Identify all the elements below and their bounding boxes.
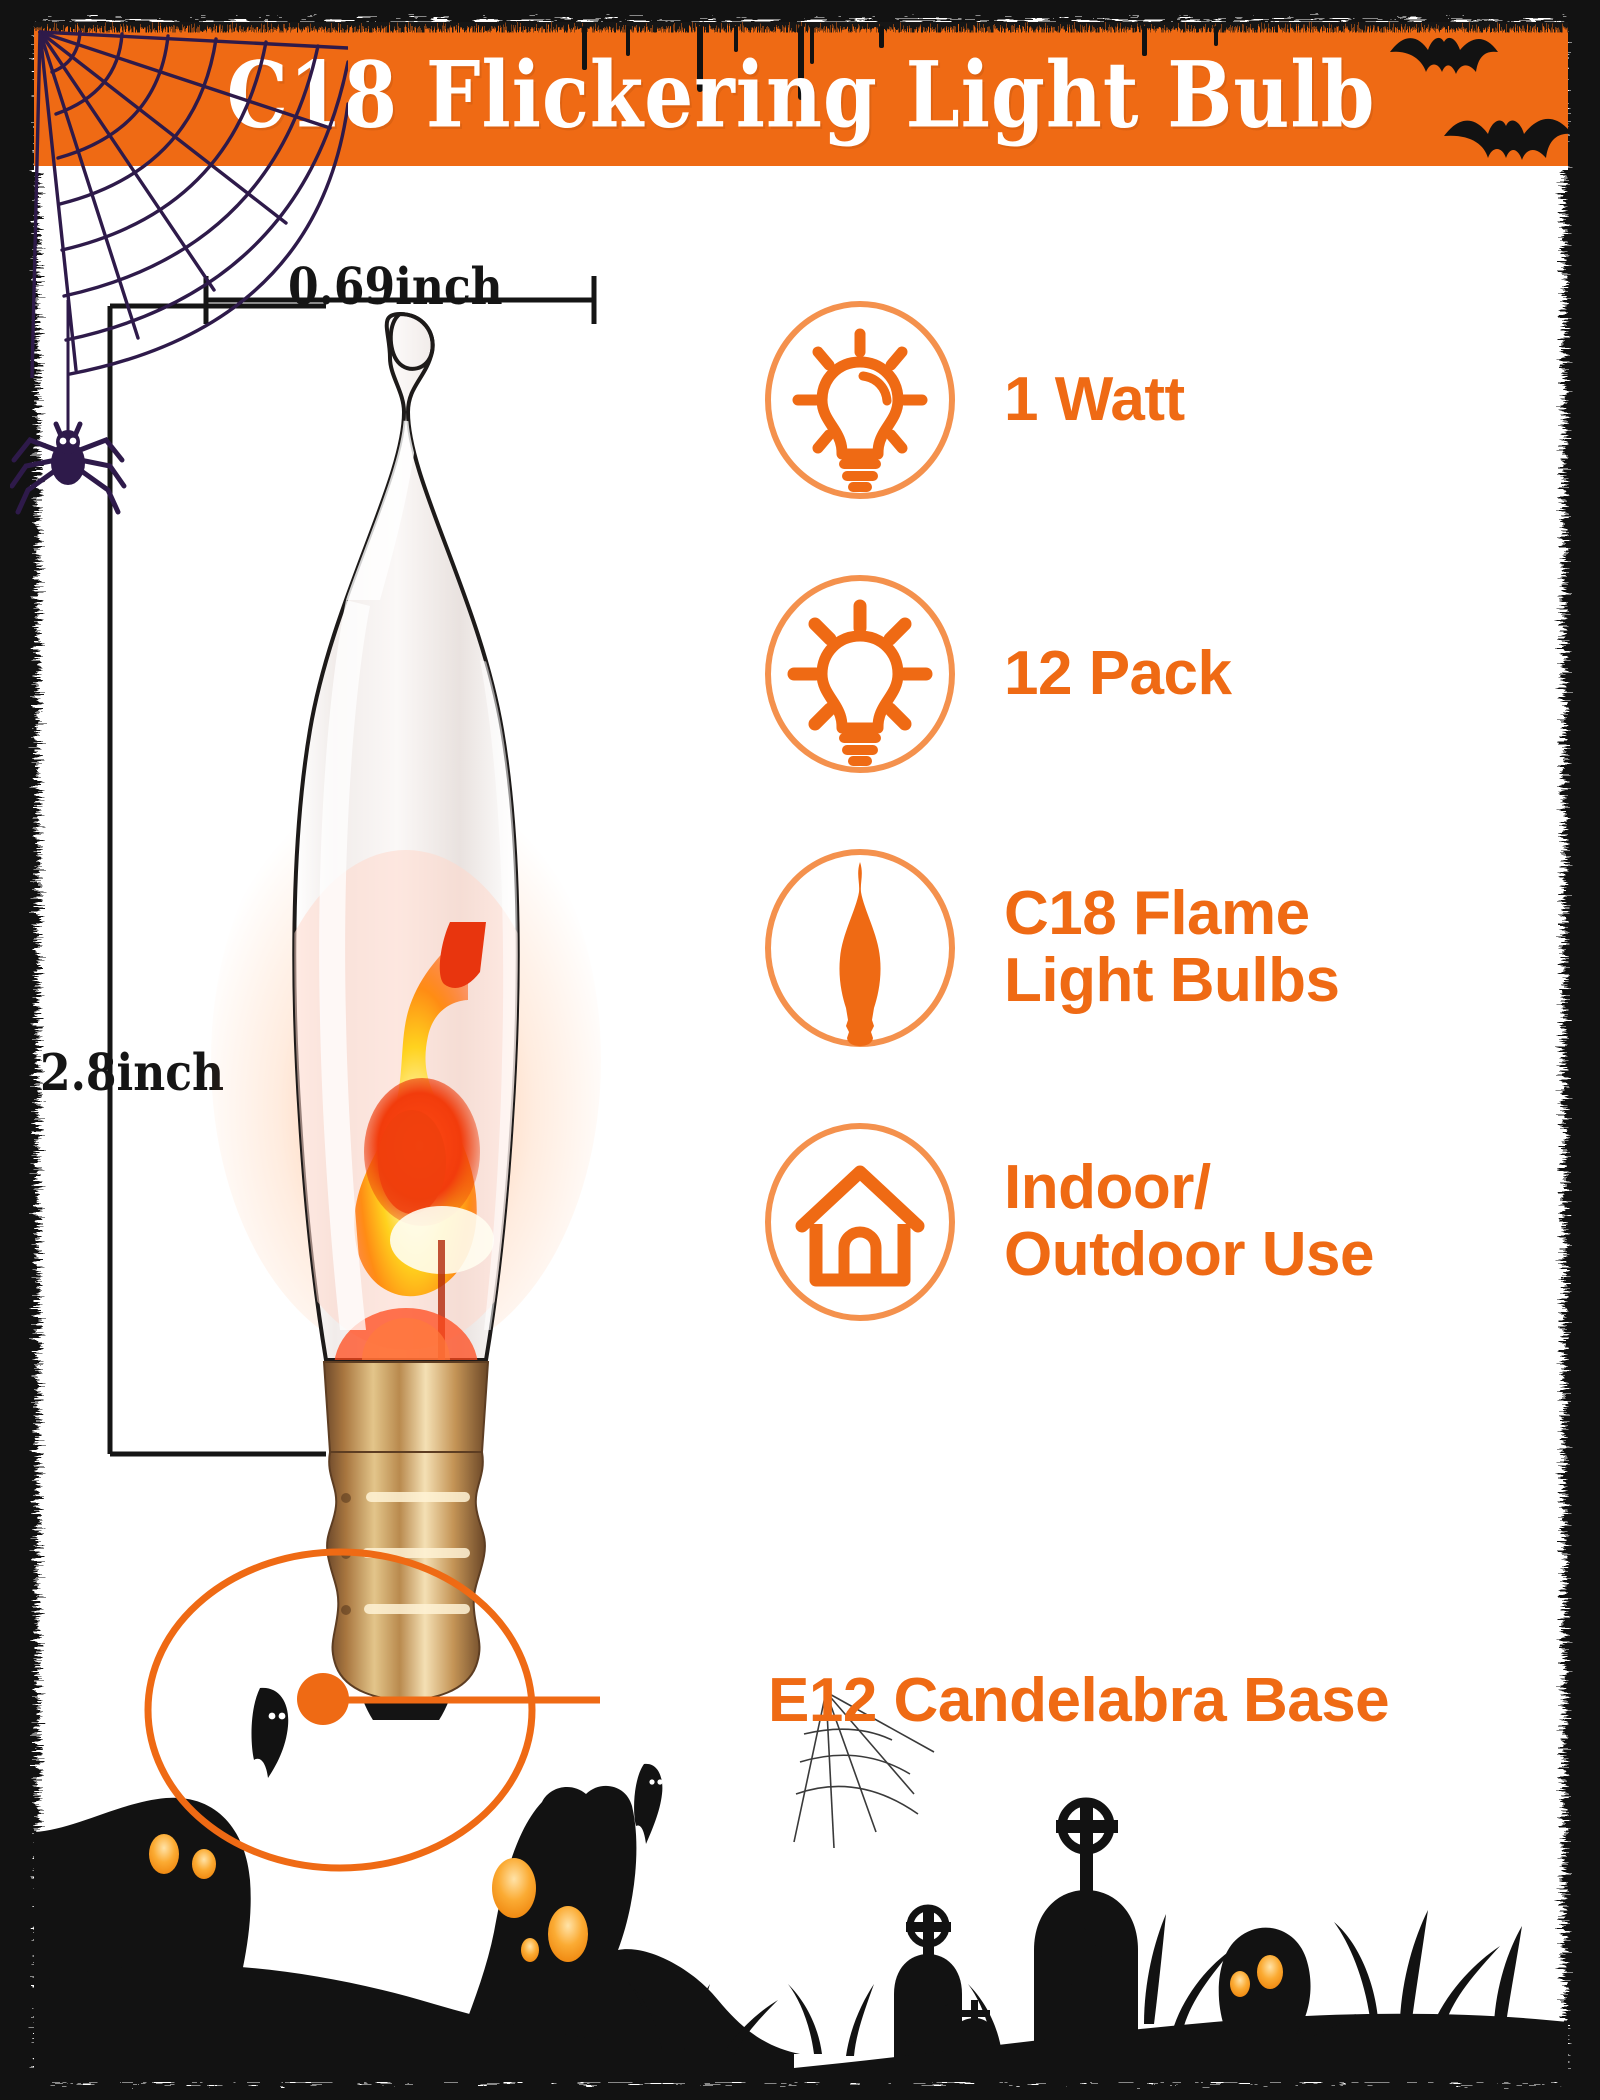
feature-list: 1 Watt: [760, 300, 1540, 1396]
small-ghost-icon: [634, 1764, 663, 1844]
page-title: C18 Flickering Light Bulb: [34, 22, 1568, 170]
feature-label: 1 Watt: [1004, 367, 1185, 434]
feature-item-1-watt: 1 Watt: [760, 300, 1540, 500]
feature-label: 12 Pack: [1004, 641, 1232, 708]
header-banner: C18 Flickering Light Bulb: [34, 22, 1568, 170]
feature-label: Indoor/ Outdoor Use: [1004, 1155, 1374, 1289]
feature-item-c18-flame: C18 Flame Light Bulbs: [760, 848, 1540, 1048]
light-bulb-rays-icon: [760, 300, 960, 500]
spider-icon: [10, 300, 130, 600]
poster-frame: C18 Flickering Light Bulb: [0, 0, 1600, 2100]
house-icon: [760, 1122, 960, 1322]
base-callout-label: E12 Candelabra Base: [768, 1665, 1389, 1736]
base-callout-marker: [288, 1664, 358, 1734]
feature-label: C18 Flame Light Bulbs: [1004, 881, 1339, 1015]
product-image: [150, 300, 670, 1720]
bat-icon: [1380, 24, 1580, 204]
flame-bulb-icon: [760, 848, 960, 1048]
feature-item-12-pack: 12 Pack: [760, 574, 1540, 774]
feature-item-indoor-outdoor: Indoor/ Outdoor Use: [760, 1122, 1540, 1322]
light-bulb-rays-icon: [760, 574, 960, 774]
